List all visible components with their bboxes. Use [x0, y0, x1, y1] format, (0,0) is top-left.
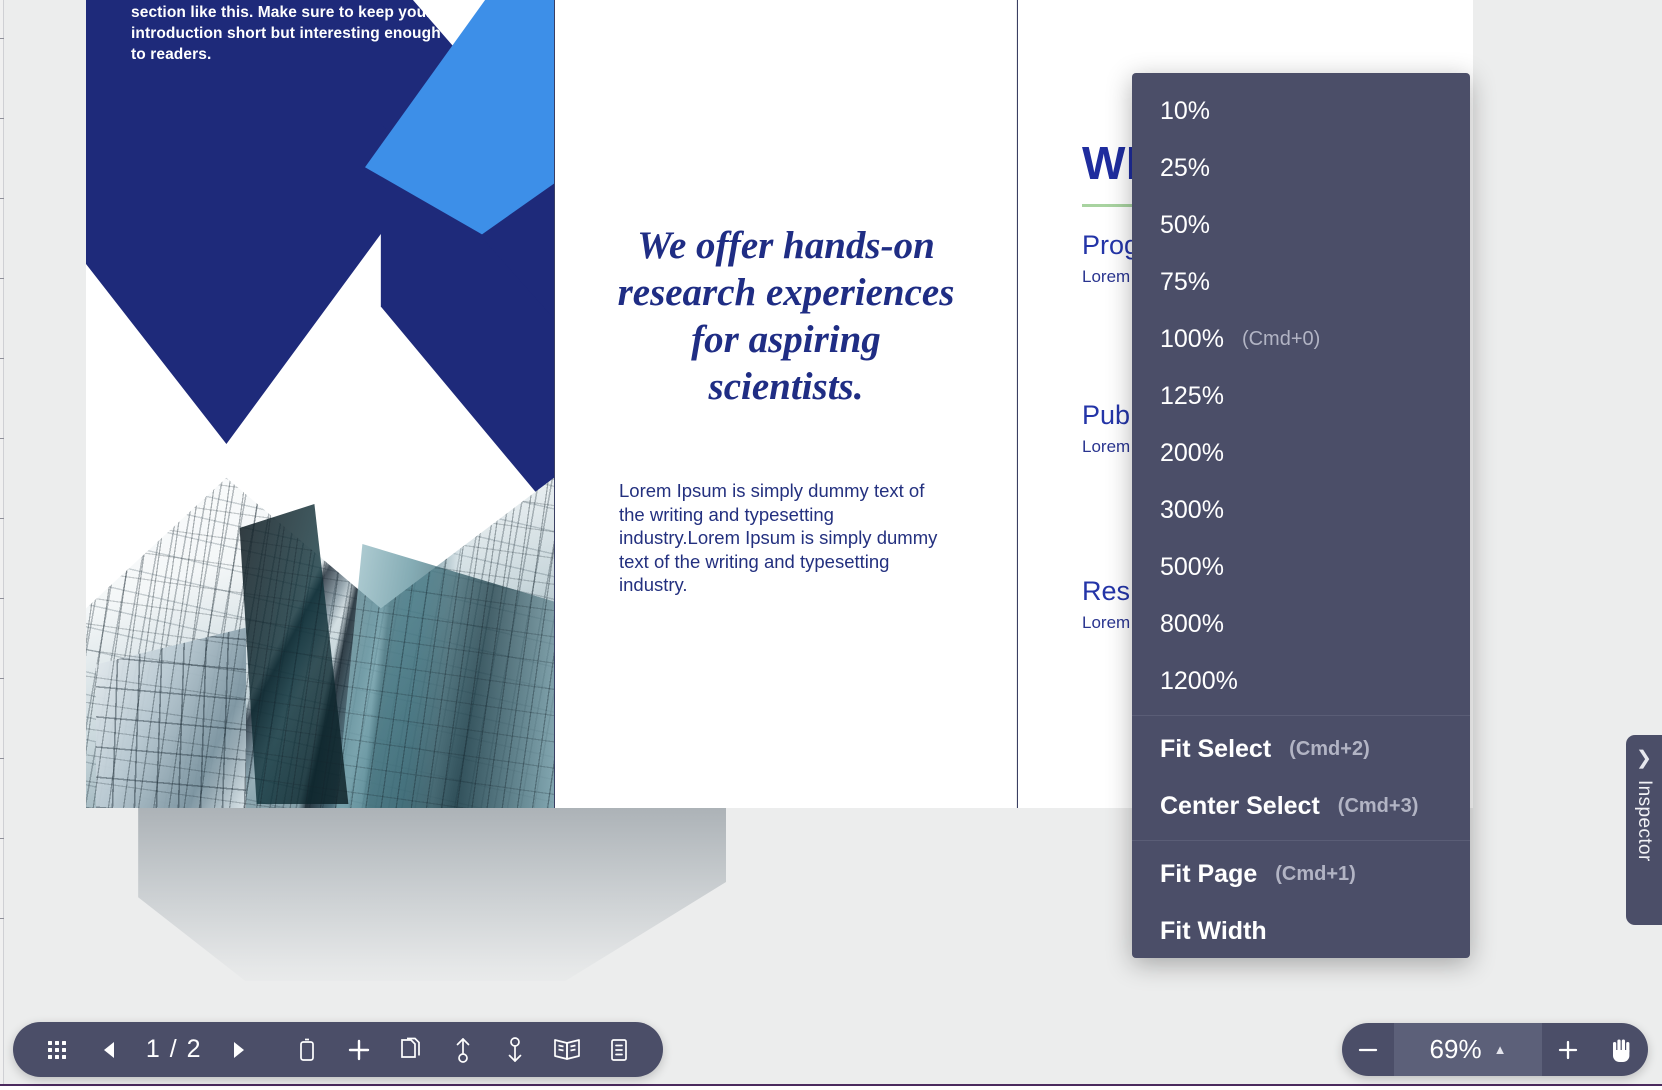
zoom-menu-item[interactable]: 500% [1132, 539, 1470, 596]
menu-separator [1132, 840, 1470, 841]
skyscraper-photo-window-grid [86, 424, 554, 808]
zoom-menu-item[interactable]: 200% [1132, 425, 1470, 482]
next-page-icon [230, 1040, 248, 1060]
zoom-menu-item-label: 100% [1160, 325, 1224, 354]
zoom-control-bar[interactable]: 69% ▲ [1342, 1023, 1648, 1076]
zoom-menu-item-label: 500% [1160, 553, 1224, 582]
duplicate-page-button[interactable] [385, 1028, 437, 1072]
zoom-menu-item-label: 75% [1160, 268, 1210, 297]
zoom-menu-item-hotkey: (Cmd+0) [1242, 328, 1320, 351]
zoom-menu-item[interactable]: Fit Page(Cmd+1) [1132, 846, 1470, 903]
minus-icon [1355, 1037, 1381, 1063]
zoom-menu-item-label: 125% [1160, 382, 1224, 411]
zoom-menu-item-hotkey: (Cmd+2) [1289, 738, 1370, 761]
zoom-menu-item-label: 10% [1160, 97, 1210, 126]
zoom-in-button[interactable] [1542, 1023, 1594, 1076]
zoom-level-value: 69% [1430, 1034, 1482, 1065]
delete-page-button[interactable] [281, 1028, 333, 1072]
plus-icon [1555, 1037, 1581, 1063]
zoom-menu-item[interactable]: 300% [1132, 482, 1470, 539]
zoom-menu-item[interactable]: 1200% [1132, 653, 1470, 710]
intro-paragraph: section like this. Make sure to keep you… [131, 2, 441, 65]
move-up-icon [452, 1036, 474, 1064]
zoom-menu-item-label: Fit Select [1160, 735, 1271, 764]
pdf-viewer-app: section like this. Make sure to keep you… [0, 0, 1662, 1090]
zoom-menu-item-label: 25% [1160, 154, 1210, 183]
duplicate-page-icon [398, 1037, 424, 1063]
zoom-level-menu[interactable]: 10%25%50%75%100%(Cmd+0)125%200%300%500%8… [1132, 73, 1470, 958]
move-page-up-button[interactable] [437, 1028, 489, 1072]
plus-icon [346, 1037, 372, 1063]
inspector-tab[interactable]: ❯ Inspector [1626, 735, 1662, 925]
zoom-menu-item[interactable]: 25% [1132, 140, 1470, 197]
zoom-menu-item-label: 300% [1160, 496, 1224, 525]
zoom-menu-item[interactable]: 10% [1132, 83, 1470, 140]
two-page-spread-button[interactable] [541, 1028, 593, 1072]
page-left[interactable]: section like this. Make sure to keep you… [86, 0, 554, 808]
zoom-menu-item-label: Fit Width [1160, 917, 1267, 946]
pan-tool-button[interactable] [1594, 1023, 1648, 1076]
page-middle[interactable]: We offer hands-on research experiences f… [554, 0, 1016, 808]
zoom-menu-item[interactable]: 50% [1132, 197, 1470, 254]
zoom-menu-item-label: Center Select [1160, 792, 1320, 821]
document-outline-icon [608, 1037, 630, 1063]
zoom-menu-item-label: 200% [1160, 439, 1224, 468]
headline-text: We offer hands-on research experiences f… [610, 222, 962, 410]
add-page-button[interactable] [333, 1028, 385, 1072]
zoom-menu-item[interactable]: Fit Select(Cmd+2) [1132, 721, 1470, 778]
two-page-spread-icon [552, 1038, 582, 1062]
caret-up-icon: ▲ [1494, 1042, 1507, 1057]
zoom-menu-item[interactable]: 125% [1132, 368, 1470, 425]
zoom-menu-item-label: 50% [1160, 211, 1210, 240]
zoom-menu-item-label: Fit Page [1160, 860, 1257, 889]
page-indicator[interactable]: 1 / 2 [135, 1035, 213, 1064]
previous-page-icon [100, 1040, 118, 1060]
zoom-menu-item-label: 800% [1160, 610, 1224, 639]
page-toolbar[interactable]: 1 / 2 [13, 1022, 663, 1077]
window-bottom-accent [0, 1084, 1662, 1086]
hand-pan-icon [1609, 1037, 1634, 1063]
zoom-out-button[interactable] [1342, 1023, 1394, 1076]
zoom-menu-item-hotkey: (Cmd+1) [1275, 863, 1356, 886]
move-page-down-button[interactable] [489, 1028, 541, 1072]
zoom-menu-item-hotkey: (Cmd+3) [1338, 795, 1419, 818]
grid-view-button[interactable] [31, 1028, 83, 1072]
next-page-button[interactable] [213, 1028, 265, 1072]
menu-separator [1132, 715, 1470, 716]
zoom-menu-item[interactable]: 100%(Cmd+0) [1132, 311, 1470, 368]
document-outline-button[interactable] [593, 1028, 645, 1072]
zoom-menu-item[interactable]: 800% [1132, 596, 1470, 653]
page-reflection [58, 806, 726, 996]
body-paragraph: Lorem Ipsum is simply dummy text of the … [619, 479, 939, 597]
previous-page-button[interactable] [83, 1028, 135, 1072]
trash-icon [296, 1037, 318, 1063]
zoom-level-display[interactable]: 69% ▲ [1394, 1023, 1542, 1076]
zoom-menu-item[interactable]: 75% [1132, 254, 1470, 311]
zoom-menu-item[interactable]: Fit Width [1132, 903, 1470, 960]
zoom-menu-item-label: 1200% [1160, 667, 1238, 696]
inspector-tab-label: Inspector [1633, 780, 1655, 862]
move-down-icon [504, 1036, 526, 1064]
grid-icon [45, 1038, 69, 1062]
chevron-right-icon: ❯ [1636, 749, 1652, 768]
zoom-menu-item[interactable]: Center Select(Cmd+3) [1132, 778, 1470, 835]
